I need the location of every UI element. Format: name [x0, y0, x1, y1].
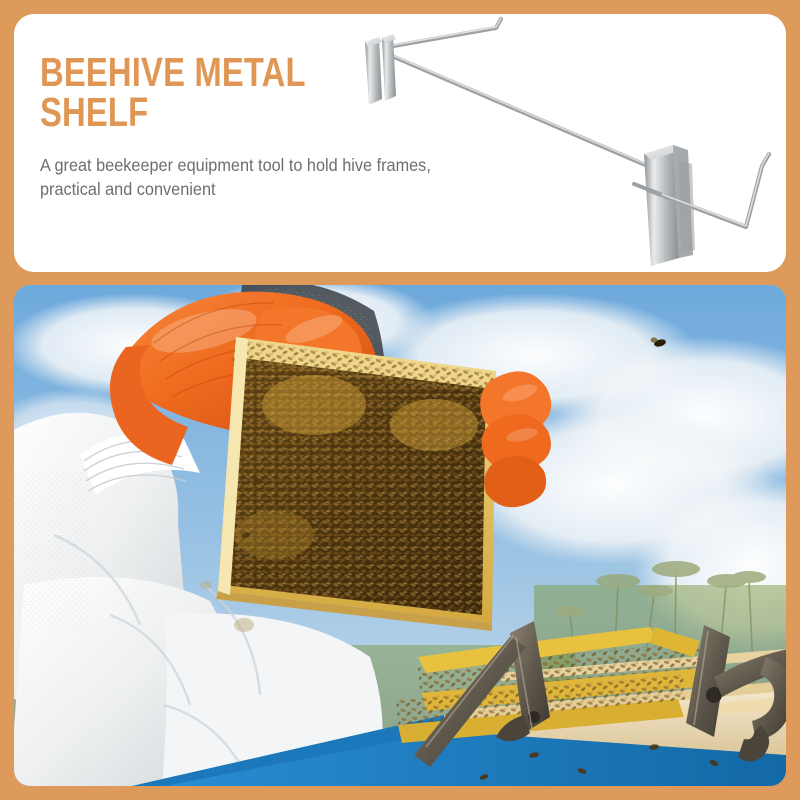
honeycomb-frame	[214, 335, 504, 635]
orange-glove-right	[480, 371, 551, 507]
page-subtitle: A great beekeeper equipment tool to hold…	[40, 154, 486, 201]
advertisement-banner: BEEHIVE METAL SHELF A great beekeeper eq…	[0, 0, 800, 800]
header-text-block: BEEHIVE METAL SHELF A great beekeeper eq…	[40, 52, 520, 201]
beekeeper-photo: PRO	[14, 285, 786, 786]
header-card: BEEHIVE METAL SHELF A great beekeeper eq…	[14, 14, 786, 272]
page-title: BEEHIVE METAL SHELF	[40, 52, 424, 132]
